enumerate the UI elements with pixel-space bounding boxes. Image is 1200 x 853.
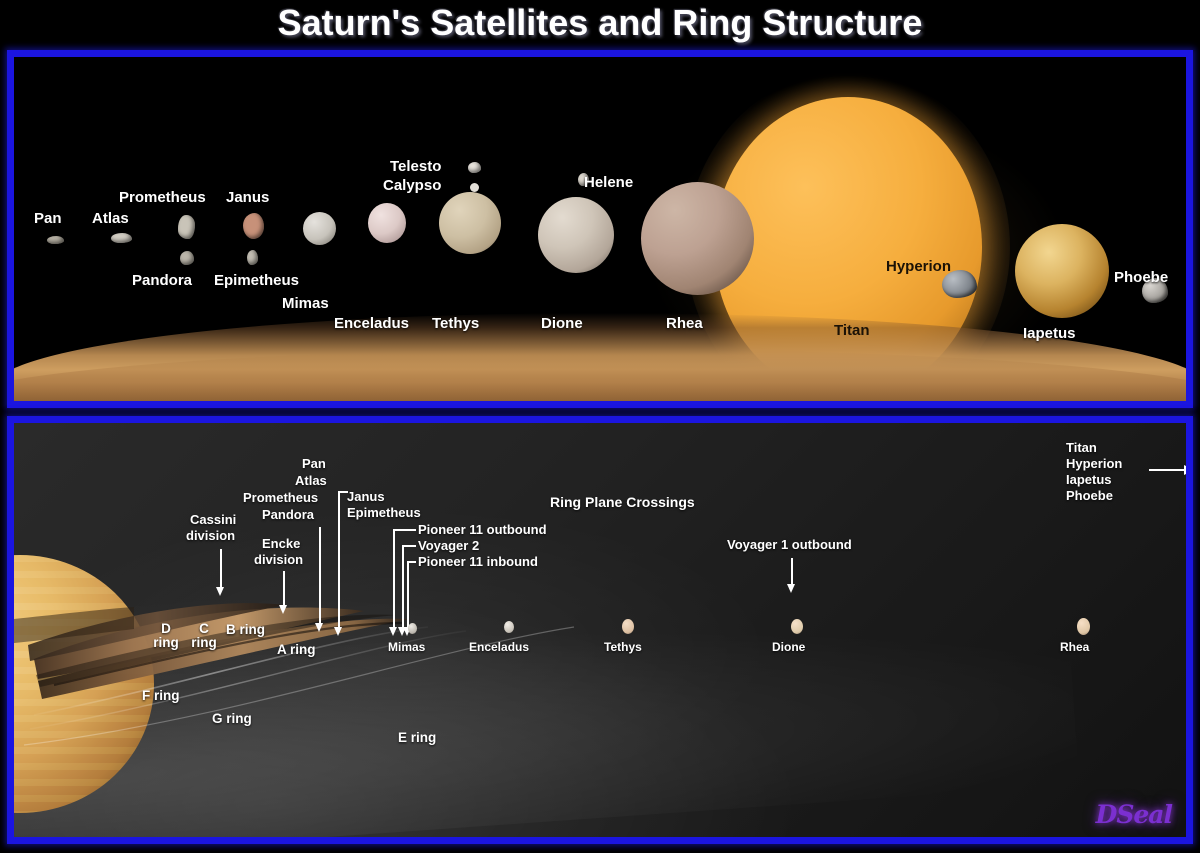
label-distant-iapetus: Iapetus (1066, 472, 1112, 487)
moon-prometheus (178, 215, 195, 239)
label-encke-division-line1: Encke (262, 536, 300, 551)
label-moon-prometheus: Prometheus (119, 189, 206, 206)
voyager-2-leader (402, 545, 416, 547)
label-moon-dione: Dione (541, 315, 583, 332)
label-moon-epimetheus: Epimetheus (214, 272, 299, 289)
label-distant-titan: Titan (1066, 440, 1097, 455)
pioneer-11-outbound-arrow-head (389, 627, 397, 636)
label-ring-moon-pan: Pan (302, 456, 326, 471)
pioneer-11-inbound-line (407, 561, 409, 630)
label-moon-tethys: Tethys (432, 315, 479, 332)
orbit-moon-dione (791, 619, 803, 634)
pan-group-arrow-line (319, 527, 321, 626)
page-title: Saturn's Satellites and Ring Structure (0, 2, 1200, 44)
label-moon-helene: Helene (584, 174, 633, 191)
moon-tethys (439, 192, 501, 254)
pioneer-11-outbound-leader (393, 529, 416, 531)
moon-pan (47, 236, 64, 244)
moon-pandora (180, 251, 194, 265)
label-ring-moon-pandora: Pandora (262, 507, 314, 522)
orbit-moon-enceladus (504, 621, 514, 633)
saturn-infographic: Saturn's Satellites and Ring Structure (0, 0, 1200, 853)
moon-atlas (111, 233, 132, 243)
label-distant-hyperion: Hyperion (1066, 456, 1122, 471)
label-cassini-division-line2: division (186, 528, 235, 543)
label-g-ring: G ring (212, 711, 252, 726)
moon-telesto (468, 162, 481, 173)
label-ring-moon-janus: Janus (347, 489, 385, 504)
janus-group-arrow-head (334, 627, 342, 636)
label-moon-pan: Pan (34, 210, 62, 227)
label-ring-plane-crossings: Ring Plane Crossings (550, 494, 695, 510)
author-signature: DSeal (1096, 800, 1172, 829)
label-b-ring: B ring (226, 622, 265, 637)
cassini-division-arrow-line (220, 549, 222, 589)
distant-moons-arrow-head (1184, 465, 1186, 475)
panel-ring-structure-diagram: Cassini division Encke division Pan Atla… (7, 416, 1193, 844)
orbit-moon-mimas (408, 623, 417, 634)
label-orbit-rhea: Rhea (1060, 640, 1089, 654)
moon-mimas (303, 212, 336, 245)
label-ring-moon-epimetheus: Epimetheus (347, 505, 421, 520)
encke-division-arrow-line (283, 571, 285, 607)
moon-epimetheus (247, 250, 258, 265)
label-voyager-1-outbound: Voyager 1 outbound (727, 537, 852, 552)
label-moon-janus: Janus (226, 189, 269, 206)
moon-rhea (641, 182, 754, 295)
label-encke-division-line2: division (254, 552, 303, 567)
label-moon-calypso: Calypso (383, 177, 441, 194)
voyager-2-line (402, 545, 404, 630)
label-pioneer-11-inbound: Pioneer 11 inbound (418, 554, 538, 569)
label-orbit-tethys: Tethys (604, 640, 642, 654)
distant-moons-arrow-line (1149, 469, 1186, 471)
label-d-ring-letter: Dring (150, 622, 182, 650)
label-moon-mimas: Mimas (282, 295, 329, 312)
label-moon-pandora: Pandora (132, 272, 192, 289)
orbit-moon-rhea (1077, 618, 1090, 635)
panel-satellite-size-comparison: Pan Atlas Prometheus Pandora Janus Epime… (7, 50, 1193, 408)
label-a-ring: A ring (277, 642, 316, 657)
label-c-ring-letter: Cring (188, 622, 220, 650)
label-moon-iapetus: Iapetus (1023, 325, 1076, 342)
label-moon-phoebe: Phoebe (1114, 269, 1168, 286)
label-cassini-division-line1: Cassini (190, 512, 236, 527)
label-moon-titan: Titan (834, 322, 870, 339)
label-orbit-mimas: Mimas (388, 640, 425, 654)
orbit-moon-tethys (622, 619, 634, 634)
moon-calypso (470, 183, 479, 192)
label-e-ring: E ring (398, 730, 436, 745)
label-voyager-2: Voyager 2 (418, 538, 479, 553)
label-moon-rhea: Rhea (666, 315, 703, 332)
janus-group-arrow-line (338, 491, 340, 630)
label-moon-atlas: Atlas (92, 210, 129, 227)
cassini-division-arrow-head (216, 587, 224, 596)
label-moon-enceladus: Enceladus (334, 315, 409, 332)
moon-enceladus (368, 203, 406, 243)
label-pioneer-11-outbound: Pioneer 11 outbound (418, 522, 547, 537)
label-moon-telesto: Telesto (390, 158, 441, 175)
moon-iapetus (1015, 224, 1109, 318)
label-distant-phoebe: Phoebe (1066, 488, 1113, 503)
moon-dione (538, 197, 614, 273)
label-ring-moon-prometheus: Prometheus (243, 490, 318, 505)
moon-janus (243, 213, 264, 239)
label-ring-moon-atlas: Atlas (295, 473, 327, 488)
label-moon-hyperion: Hyperion (886, 258, 951, 275)
label-f-ring: F ring (142, 688, 180, 703)
voyager-1-outbound-line (791, 558, 793, 586)
encke-division-arrow-head (279, 605, 287, 614)
label-orbit-dione: Dione (772, 640, 805, 654)
voyager-1-outbound-arrow-head (787, 584, 795, 593)
pan-group-arrow-head (315, 623, 323, 632)
label-orbit-enceladus: Enceladus (469, 640, 529, 654)
pioneer-11-outbound-line (393, 529, 395, 630)
